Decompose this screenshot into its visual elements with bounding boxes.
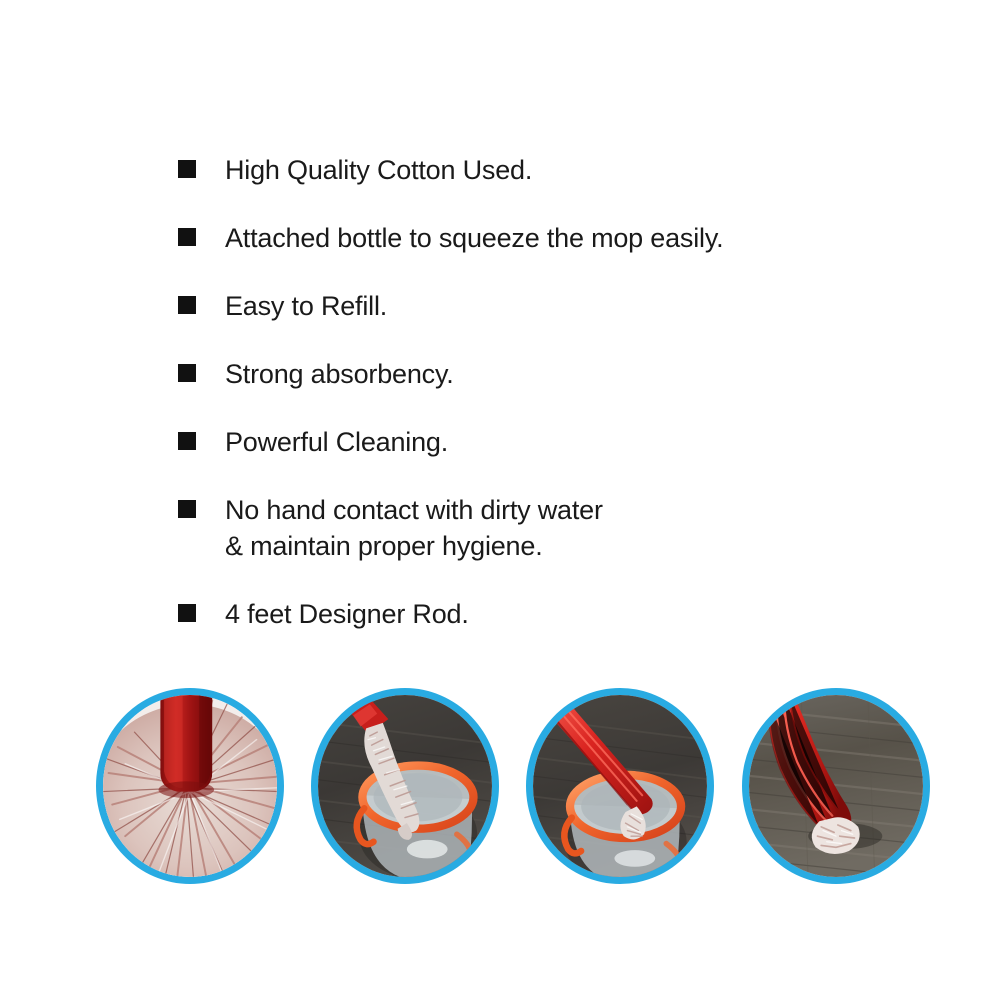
feature-item: Powerful Cleaning. — [178, 424, 898, 460]
bullet-square-icon — [178, 296, 196, 314]
bullet-square-icon — [178, 500, 196, 518]
feature-item: No hand contact with dirty water & maint… — [178, 492, 898, 564]
feature-item: Strong absorbency. — [178, 356, 898, 392]
bullet-square-icon — [178, 432, 196, 450]
feature-label: Attached bottle to squeeze the mop easil… — [225, 220, 723, 256]
feature-label: 4 feet Designer Rod. — [225, 596, 469, 632]
photo-mop-rod-over-bucket — [526, 688, 714, 884]
mop-rod-over-bucket-illustration — [533, 695, 707, 877]
bullet-square-icon — [178, 160, 196, 178]
bullet-square-icon — [178, 364, 196, 382]
feature-label: Easy to Refill. — [225, 288, 387, 324]
feature-label: No hand contact with dirty water & maint… — [225, 492, 603, 564]
feature-label: High Quality Cotton Used. — [225, 152, 532, 188]
mop-head-closeup-illustration — [103, 695, 277, 877]
mop-into-bucket-illustration — [318, 695, 492, 877]
feature-item: Attached bottle to squeeze the mop easil… — [178, 220, 898, 256]
photo-mop-head-closeup — [96, 688, 284, 884]
bullet-square-icon — [178, 228, 196, 246]
mop-on-floor-illustration — [749, 695, 923, 877]
photo-mop-into-bucket — [311, 688, 499, 884]
feature-label: Powerful Cleaning. — [225, 424, 448, 460]
photo-mop-on-floor — [742, 688, 930, 884]
feature-list: High Quality Cotton Used. Attached bottl… — [178, 152, 898, 664]
bullet-square-icon — [178, 604, 196, 622]
feature-item: 4 feet Designer Rod. — [178, 596, 898, 632]
feature-item: Easy to Refill. — [178, 288, 898, 324]
feature-label: Strong absorbency. — [225, 356, 454, 392]
feature-item: High Quality Cotton Used. — [178, 152, 898, 188]
product-photo-strip — [96, 688, 912, 888]
product-feature-page: High Quality Cotton Used. Attached bottl… — [0, 0, 1000, 1000]
